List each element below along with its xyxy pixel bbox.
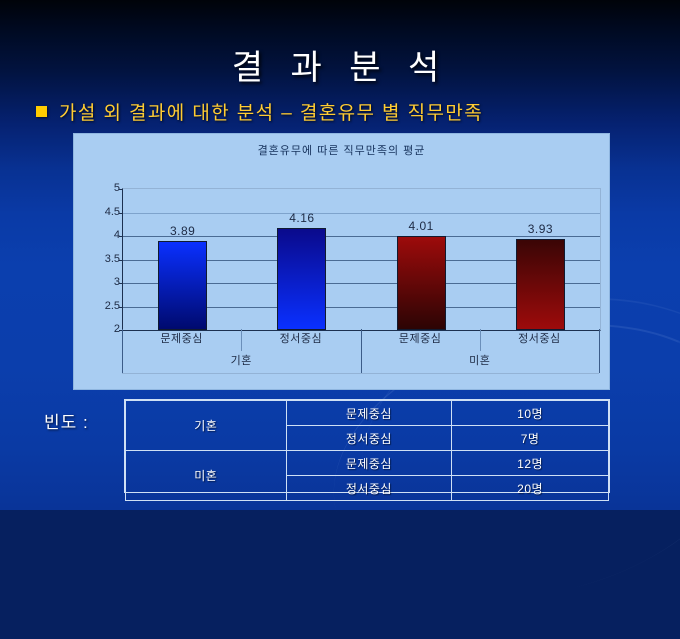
bar bbox=[516, 239, 565, 330]
category-label: 문제중심 bbox=[122, 329, 241, 350]
table-cell-count: 12명 bbox=[452, 451, 609, 476]
y-tick-mark bbox=[119, 213, 123, 214]
bar-chart: 결혼유무에 따른 직무만족의 평균 54.543.532.52 3.894.16… bbox=[73, 133, 610, 390]
y-tick-label: 2.5 bbox=[80, 301, 120, 311]
bar-value-label: 4.01 bbox=[391, 219, 451, 233]
y-tick-mark bbox=[119, 260, 123, 261]
bar bbox=[277, 228, 326, 330]
table-cell-type: 문제중심 bbox=[286, 401, 452, 426]
y-tick-mark bbox=[119, 283, 123, 284]
bar-value-label: 3.93 bbox=[510, 222, 570, 236]
frequency-table: 기혼문제중심10명정서중심7명미혼문제중심12명정서중심20명 bbox=[124, 399, 610, 493]
subtitle-row: 가설 외 결과에 대한 분석 – 결혼유무 별 직무만족 bbox=[36, 98, 656, 125]
y-tick-label: 4 bbox=[80, 230, 120, 240]
table-cell-count: 20명 bbox=[452, 476, 609, 501]
group-label: 미혼 bbox=[361, 351, 600, 372]
plot-wrapper: 54.543.532.52 3.894.164.013.93 문제중심정서중심문… bbox=[74, 134, 609, 389]
y-tick-label: 2 bbox=[80, 324, 120, 334]
table-cell-type: 정서중심 bbox=[286, 426, 452, 451]
table-cell-type: 문제중심 bbox=[286, 451, 452, 476]
table-cell-type: 정서중심 bbox=[286, 476, 452, 501]
table-cell-group: 미혼 bbox=[126, 451, 287, 501]
bar bbox=[397, 236, 446, 330]
y-tick-mark bbox=[119, 189, 123, 190]
table-row: 기혼문제중심10명 bbox=[126, 401, 609, 426]
table-cell-count: 10명 bbox=[452, 401, 609, 426]
group-label: 기혼 bbox=[122, 351, 361, 372]
category-label: 정서중심 bbox=[480, 329, 599, 350]
category-axis-row: 문제중심정서중심문제중심정서중심 bbox=[122, 329, 599, 351]
category-label: 문제중심 bbox=[361, 329, 480, 350]
category-separator bbox=[480, 329, 481, 351]
table-cell-count: 7명 bbox=[452, 426, 609, 451]
bar-value-label: 3.89 bbox=[153, 224, 213, 238]
y-tick-label: 4.5 bbox=[80, 207, 120, 217]
group-separator bbox=[361, 351, 362, 373]
table-cell-group: 기혼 bbox=[126, 401, 287, 451]
y-tick-label: 3.5 bbox=[80, 254, 120, 264]
page-title: 결 과 분 석 bbox=[0, 40, 680, 89]
category-separator bbox=[361, 329, 362, 351]
plot-area: 3.894.164.013.93 bbox=[122, 188, 601, 331]
y-tick-mark bbox=[119, 307, 123, 308]
gridline bbox=[123, 213, 600, 214]
y-tick-mark bbox=[119, 236, 123, 237]
bar bbox=[158, 241, 207, 330]
category-label: 정서중심 bbox=[241, 329, 360, 350]
presentation-slide: 결 과 분 석 가설 외 결과에 대한 분석 – 결혼유무 별 직무만족 결혼유… bbox=[0, 0, 680, 510]
frequency-label: 빈도 : bbox=[44, 408, 89, 433]
axis-edge-separator bbox=[599, 329, 600, 373]
y-tick-label: 3 bbox=[80, 277, 120, 287]
table-row: 미혼문제중심12명 bbox=[126, 451, 609, 476]
category-separator bbox=[241, 329, 242, 351]
axis-bottom-line bbox=[122, 373, 599, 374]
subtitle-text: 가설 외 결과에 대한 분석 – 결혼유무 별 직무만족 bbox=[59, 98, 483, 125]
y-tick-label: 5 bbox=[80, 183, 120, 193]
bar-value-label: 4.16 bbox=[272, 211, 332, 225]
square-bullet-icon bbox=[36, 106, 47, 117]
group-axis-row: 기혼미혼 bbox=[122, 351, 599, 373]
